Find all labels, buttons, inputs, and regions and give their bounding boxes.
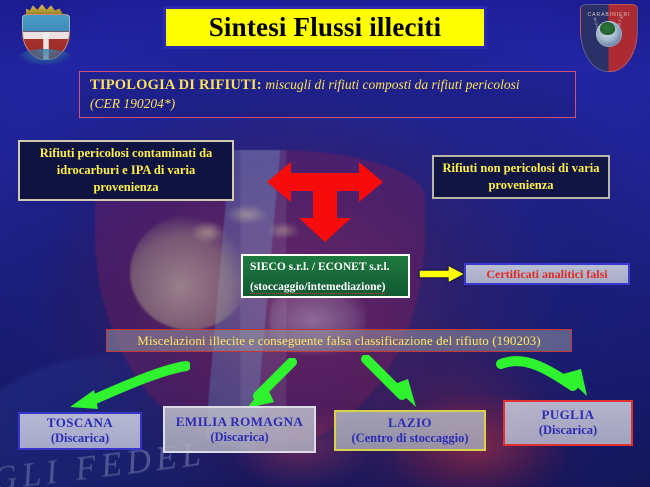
waste-type-label: TIPOLOGIA DI RIFIUTI: [90, 77, 262, 93]
region-name: EMILIA ROMAGNA [176, 414, 303, 430]
hazardous-waste-box: Rifiuti pericolosi contaminati da idroca… [18, 140, 234, 201]
non-hazardous-waste-box: Rifiuti non pericolosi di varia provenie… [432, 155, 610, 199]
region-detail: (Discarica) [210, 430, 268, 445]
carabinieri-label: CARABINIERI [581, 12, 637, 18]
yellow-right-arrow-icon [418, 264, 466, 284]
hazardous-waste-label: Rifiuti pericolosi contaminati da idroca… [24, 145, 228, 195]
background-grenade-icon [130, 215, 250, 330]
region-name: LAZIO [388, 415, 432, 431]
comune-crest-icon [14, 3, 76, 65]
operator-activity: (stoccaggio/intemediazione) [250, 281, 385, 295]
region-box-emilia-romagna: EMILIA ROMAGNA (Discarica) [163, 406, 316, 453]
non-hazardous-waste-label: Rifiuti non pericolosi di varia provenie… [434, 160, 608, 194]
false-certificates-box: Certificati analitici falsi [464, 263, 630, 285]
globe-icon [596, 21, 622, 47]
waste-type-code: (CER 190204*) [90, 96, 175, 111]
region-box-puglia: PUGLIA (Discarica) [503, 400, 633, 446]
illegal-mixing-label: Miscelazioni illecite e conseguente fals… [137, 333, 540, 349]
operator-name: SIECO s.r.l. / ECONET s.r.l. [250, 261, 404, 274]
shield-icon: CARABINIERI NUCLEO AMBIENTE [580, 4, 638, 72]
region-detail: (Discarica) [539, 423, 597, 438]
region-detail: (Discarica) [51, 431, 109, 446]
region-name: PUGLIA [542, 407, 595, 423]
false-certificates-label: Certificati analitici falsi [486, 267, 607, 282]
region-name: TOSCANA [47, 415, 113, 431]
slide-title-box: Sintesi Flussi illeciti [163, 6, 487, 49]
presentation-slide: GLI FEDEL CARABINIERI NUCLEO AMBIENTE Si… [0, 0, 650, 487]
red-three-way-arrow-icon [267, 160, 383, 242]
green-arrow-to-lazio-icon [358, 355, 428, 418]
operator-box: SIECO s.r.l. / ECONET s.r.l. (stoccaggio… [241, 254, 410, 298]
page-title: Sintesi Flussi illeciti [209, 12, 442, 43]
region-detail: (Centro di stoccaggio) [351, 431, 468, 446]
region-box-lazio: LAZIO (Centro di stoccaggio) [334, 410, 486, 451]
waste-type-banner: TIPOLOGIA DI RIFIUTI: miscugli di rifiut… [79, 71, 576, 118]
region-box-toscana: TOSCANA (Discarica) [18, 412, 142, 450]
illegal-mixing-box: Miscelazioni illecite e conseguente fals… [106, 329, 572, 352]
carabinieri-shield-icon: CARABINIERI NUCLEO AMBIENTE [580, 4, 638, 72]
waste-type-description: miscugli di rifiuti composti da rifiuti … [265, 77, 519, 92]
crest-wreath-icon [18, 49, 72, 65]
